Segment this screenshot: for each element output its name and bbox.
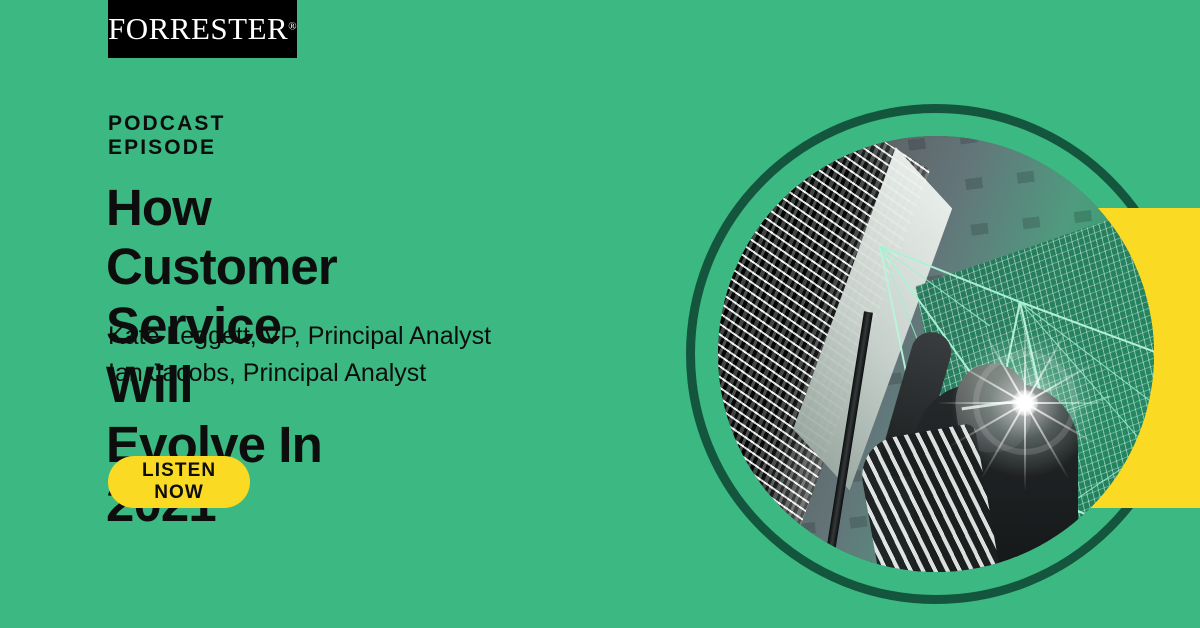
listen-now-button[interactable]: LISTEN NOW [108, 456, 250, 508]
forrester-logo: FORRESTER® [108, 0, 297, 58]
registered-trademark-icon: ® [288, 21, 297, 33]
promo-graphic: FORRESTER® PODCAST EPISODE How Customer … [0, 0, 1200, 628]
byline: Kate Leggett, VP, Principal Analyst Ian … [108, 318, 491, 391]
circular-photo [718, 136, 1154, 572]
logo-text-main: FORRESTER [108, 11, 288, 46]
eyebrow-label: PODCAST EPISODE [108, 112, 225, 160]
logo-wordmark: FORRESTER® [108, 11, 297, 47]
byline-line-1: Kate Leggett, VP, Principal Analyst [108, 318, 491, 355]
byline-line-2: Ian Jacobs, Principal Analyst [108, 355, 491, 392]
